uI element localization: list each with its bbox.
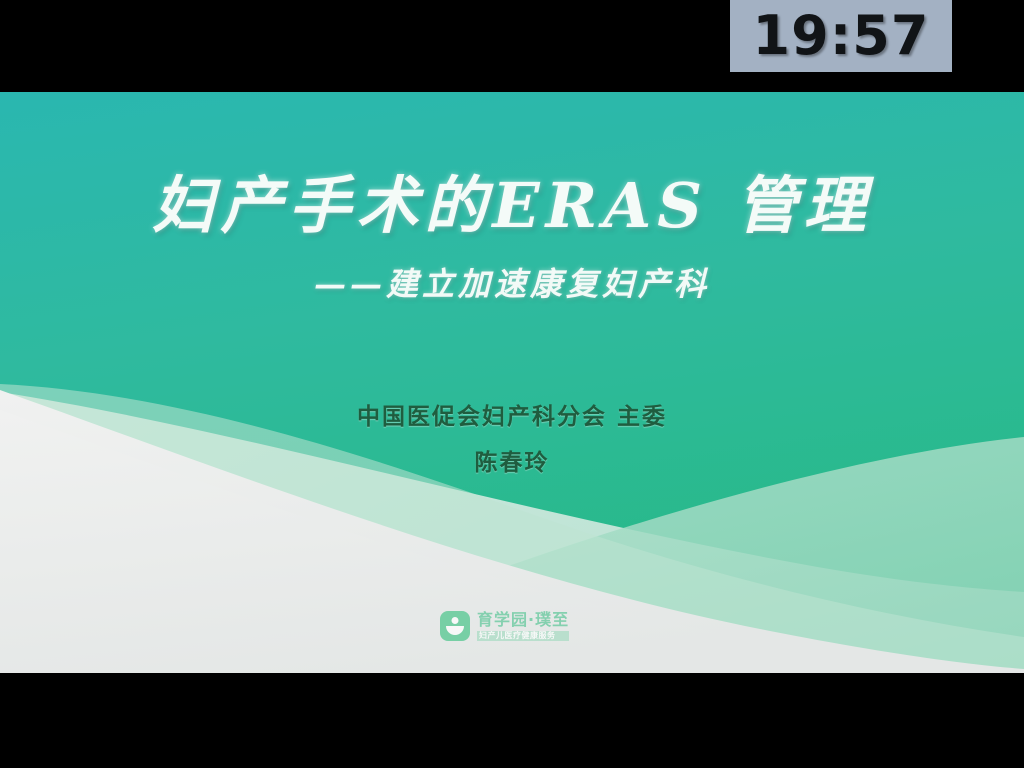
brand-text-group: 育学园·璞至 妇产儿医疗健康服务	[477, 612, 569, 641]
logo-bowl-shape	[446, 626, 464, 635]
baby-bowl-logo-icon	[440, 611, 470, 641]
brand-name: 育学园·璞至	[477, 612, 569, 628]
slide-background-graphic	[0, 92, 1024, 673]
countdown-timer-value: 19:57	[753, 9, 930, 63]
video-player-viewport: 妇产手术的ERAS 管理 ——建立加速康复妇产科 中国医促会妇产科分会 主委 陈…	[0, 0, 1024, 768]
logo-head-shape	[452, 617, 459, 624]
countdown-timer-panel[interactable]: 19:57	[730, 0, 952, 72]
presentation-slide: 妇产手术的ERAS 管理 ——建立加速康复妇产科 中国医促会妇产科分会 主委 陈…	[0, 92, 1024, 673]
letterbox-bottom-bar	[0, 673, 1024, 768]
brand-tagline: 妇产儿医疗健康服务	[477, 631, 569, 641]
brand-logo: 育学园·璞至 妇产儿医疗健康服务	[440, 607, 600, 645]
